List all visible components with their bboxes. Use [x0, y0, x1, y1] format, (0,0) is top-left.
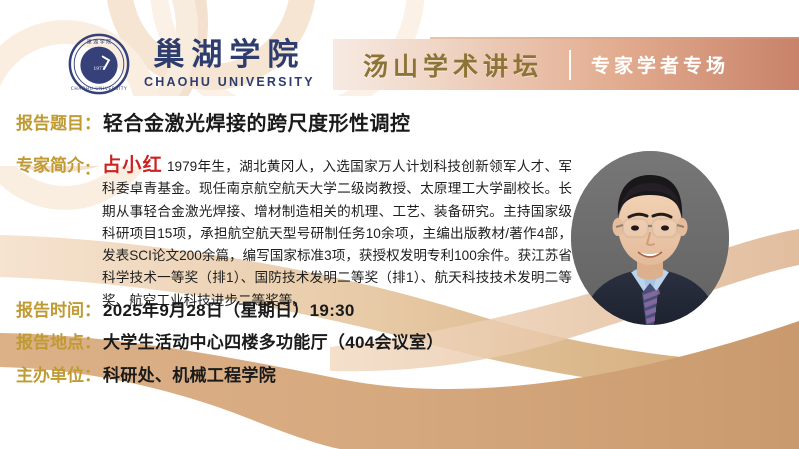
report-title-label: 报告题目 [16, 109, 84, 134]
banner-subtitle: 专家学者专场 [591, 51, 729, 78]
report-organizer-colon: ： [84, 361, 101, 386]
university-logo-block: 1977 巢 湖 学 院 CHAOHU UNIVERSITY 巢湖学院 CHAO… [68, 33, 315, 95]
speaker-bio-text: 1979年生，湖北黄冈人，入选国家万人计划科技创新领军人才、军科委卓青基金。现任… [102, 159, 572, 308]
speaker-name: 占小红 [102, 155, 163, 176]
report-place-label: 报告地点 [16, 328, 84, 353]
report-place-colon: ： [84, 328, 101, 353]
banner-divider [569, 50, 571, 80]
report-place-value: 大学生活动中心四楼多功能厅（404会议室） [103, 328, 444, 353]
report-organizer-row: 主办单位 ： 科研处、机械工程学院 [16, 361, 276, 386]
svg-text:CHAOHU UNIVERSITY: CHAOHU UNIVERSITY [71, 86, 128, 92]
speaker-portrait [571, 151, 729, 325]
report-time-value: 2025年9月28日（星期日）19:30 [103, 296, 355, 321]
speaker-bio-body: 占小红 1979年生，湖北黄冈人，入选国家万人计划科技创新领军人才、军科委卓青基… [102, 155, 572, 312]
chaohu-university-seal-icon: 1977 巢 湖 学 院 CHAOHU UNIVERSITY [68, 33, 130, 95]
banner-title: 汤山学术讲坛 [363, 47, 543, 83]
header-rule [430, 37, 799, 39]
svg-text:巢 湖 学 院: 巢 湖 学 院 [87, 39, 112, 46]
report-organizer-label: 主办单位 [16, 361, 84, 386]
university-name-cn: 巢湖学院 [153, 39, 305, 72]
report-organizer-value: 科研处、机械工程学院 [103, 361, 276, 386]
svg-text:1977: 1977 [93, 67, 104, 72]
report-time-row: 报告时间 ： 2025年9月28日（星期日）19:30 [16, 296, 355, 321]
report-time-colon: ： [84, 296, 101, 321]
banner-strip: 汤山学术讲坛 专家学者专场 [333, 39, 799, 90]
report-title-value: 轻合金激光焊接的跨尺度形性调控 [103, 107, 411, 136]
speaker-bio-label: 专家简介 [16, 155, 84, 177]
report-place-row: 报告地点 ： 大学生活动中心四楼多功能厅（404会议室） [16, 328, 444, 353]
report-title-row: 报告题目 ： 轻合金激光焊接的跨尺度形性调控 [16, 109, 411, 136]
speaker-portrait-image [571, 151, 729, 325]
poster-canvas: 汤山学术讲坛 专家学者专场 [0, 0, 799, 449]
report-time-label: 报告时间 [16, 296, 84, 321]
university-name-en: CHAOHU UNIVERSITY [144, 75, 315, 89]
speaker-bio-colon: ： [84, 155, 100, 179]
speaker-bio-row: 专家简介 ： 占小红 1979年生，湖北黄冈人，入选国家万人计划科技创新领军人才… [16, 155, 572, 312]
report-title-colon: ： [84, 109, 101, 134]
